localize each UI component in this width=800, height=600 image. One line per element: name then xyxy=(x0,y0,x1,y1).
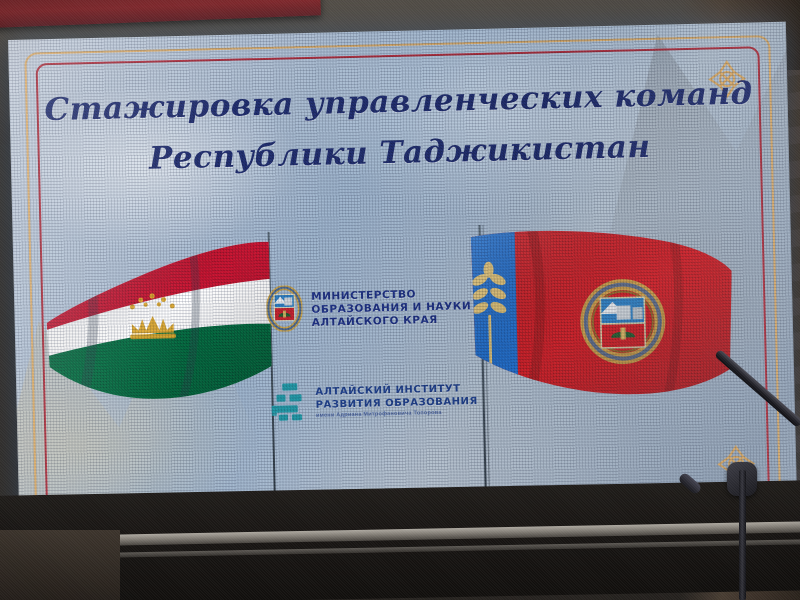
flag-altai-krai xyxy=(460,219,739,415)
slide-title: Стажировка управленческих команд Республ… xyxy=(9,74,789,181)
airo-logo-icon xyxy=(268,381,307,427)
altai-krai-coat-of-arms-icon xyxy=(266,285,303,337)
led-screen: Стажировка управленческих команд Республ… xyxy=(8,21,800,549)
org-airo: АЛТАЙСКИЙ ИНСТИТУТ РАЗВИТИЯ ОБРАЗОВАНИЯ … xyxy=(268,377,478,427)
org-ministry-line-3: АЛТАЙСКОГО КРАЯ xyxy=(312,313,472,330)
org-airo-text: АЛТАЙСКИЙ ИНСТИТУТ РАЗВИТИЯ ОБРАЗОВАНИЯ … xyxy=(315,383,478,420)
org-ministry-text: МИНИСТЕРСТВО ОБРАЗОВАНИЯ И НАУКИ АЛТАЙСК… xyxy=(311,287,472,330)
flag-tajikistan xyxy=(41,233,300,424)
org-ministry: МИНИСТЕРСТВО ОБРАЗОВАНИЯ И НАУКИ АЛТАЙСК… xyxy=(266,281,472,337)
slide-surface: Стажировка управленческих команд Республ… xyxy=(8,22,797,537)
floor-left xyxy=(0,530,120,600)
microphone-stand xyxy=(739,470,746,600)
photo-scene: Стажировка управленческих команд Республ… xyxy=(0,0,800,600)
